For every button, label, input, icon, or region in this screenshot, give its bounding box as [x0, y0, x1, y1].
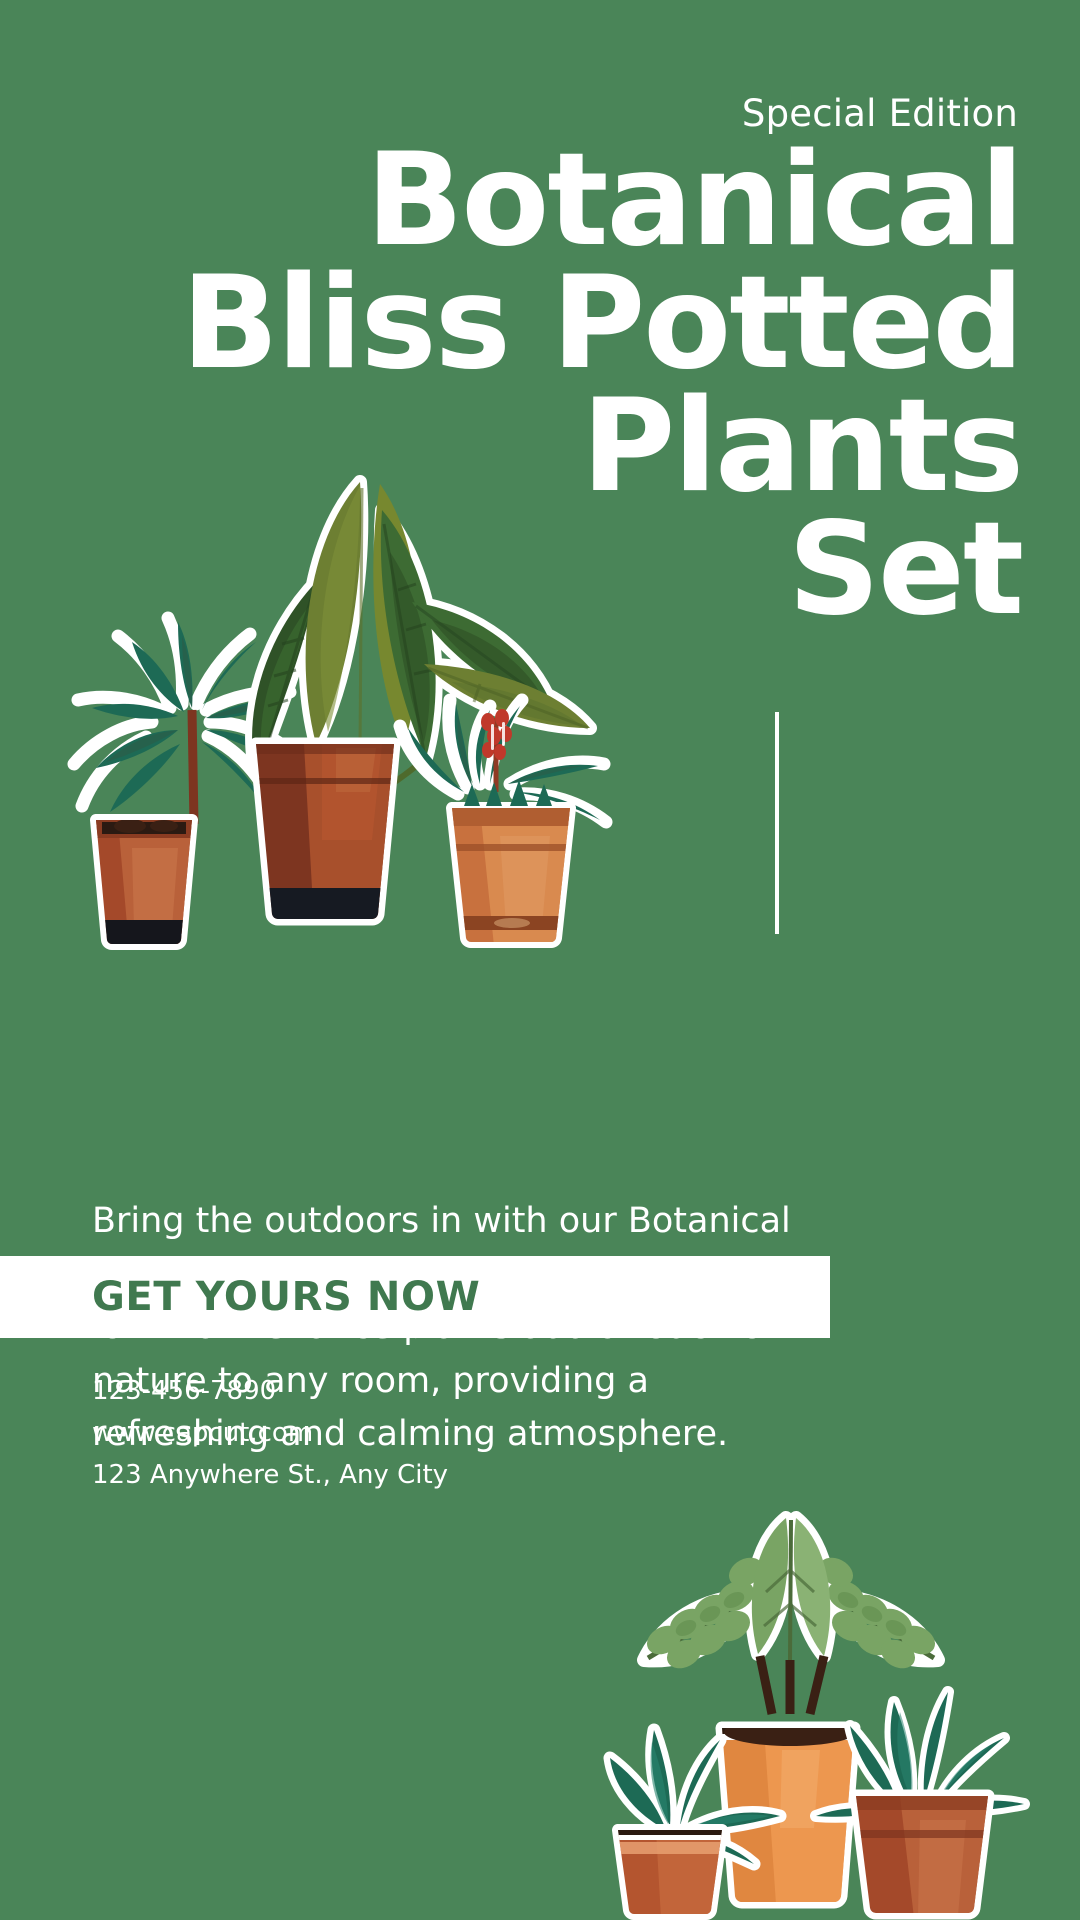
- contact-address: 123 Anywhere St., Any City: [92, 1454, 448, 1496]
- cta-band[interactable]: GET YOURS NOW: [0, 1256, 830, 1338]
- contact-website[interactable]: www.capcut.com: [92, 1412, 448, 1454]
- small-left-pot: [96, 819, 192, 948]
- headline-line-1: Botanical: [60, 140, 1022, 263]
- cta-label[interactable]: GET YOURS NOW: [92, 1274, 480, 1320]
- right-terracotta-pot: [448, 780, 574, 946]
- footer-plants-illustration: [600, 1500, 1080, 1920]
- contact-phone[interactable]: 123-456-7890: [92, 1370, 448, 1412]
- vertical-divider: [775, 712, 779, 934]
- eyebrow-label: Special Edition: [742, 92, 1018, 135]
- large-center-pot: [250, 740, 400, 926]
- contact-block: 123-456-7890 www.capcut.com 123 Anywhere…: [92, 1370, 448, 1496]
- small-left-footer-pot: [614, 1826, 726, 1918]
- hero-plants-illustration: [60, 392, 680, 952]
- right-footer-pot: [850, 1792, 996, 1918]
- zz-plant-group: [642, 1518, 940, 1714]
- poster-canvas: Special Edition Botanical Bliss Potted P…: [0, 0, 1080, 1920]
- headline-line-2: Bliss Potted: [60, 263, 1022, 386]
